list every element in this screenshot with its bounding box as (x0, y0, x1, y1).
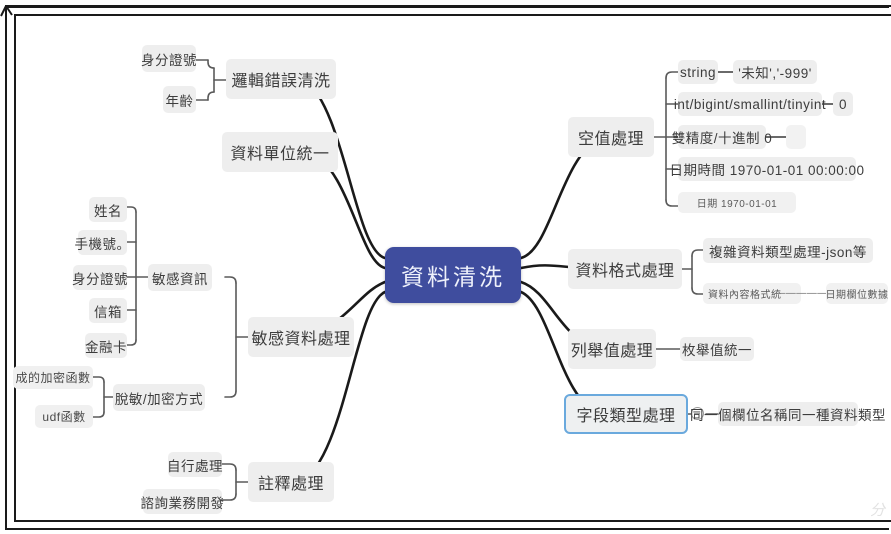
node-id-number-logic[interactable]: 身分證號 (142, 45, 196, 72)
node-null-int-types[interactable]: int/bigint/smallint/tinyint (678, 92, 822, 116)
node-label: 身分證號 (72, 268, 128, 288)
node-null-string-value[interactable]: '未知','-999' (733, 60, 817, 84)
node-label: 日期欄位數據 (826, 286, 889, 301)
branch-label: 邏輯錯誤清洗 (232, 67, 331, 91)
branch-enum-value-handling[interactable]: 列舉值處理 (568, 329, 656, 369)
node-label: 枚舉值統一 (682, 339, 752, 359)
node-label: 姓名 (94, 200, 122, 220)
branch-sensitive-data-handling[interactable]: 敏感資料處理 (248, 317, 354, 357)
branch-label: 資料單位統一 (231, 140, 330, 164)
node-label: 自行處理 (167, 455, 223, 475)
node-builtin-encryption-function[interactable]: 成的加密函數 (13, 366, 93, 389)
node-id-number-sensitive[interactable]: 身分證號 (73, 265, 127, 290)
branch-label: 資料格式處理 (576, 257, 675, 281)
node-label: udf函數 (42, 408, 85, 425)
node-enum-value-unify[interactable]: 枚舉值統一 (680, 337, 754, 361)
branch-null-value-handling[interactable]: 空值處理 (568, 117, 654, 157)
node-self-handling[interactable]: 自行處理 (168, 452, 222, 477)
node-label: 敏感資訊 (152, 268, 208, 288)
branch-label: 空值處理 (578, 125, 644, 149)
node-phone-number[interactable]: 手機號。 (78, 230, 127, 255)
node-financial-card[interactable]: 金融卡 (85, 333, 127, 358)
node-label: 年齡 (166, 90, 194, 110)
node-null-string[interactable]: string (678, 60, 718, 84)
node-label: 日期時間 1970-01-01 00:00:00 (669, 159, 864, 179)
node-null-int-value[interactable]: 0 (833, 92, 853, 116)
branch-comment-handling[interactable]: 註釋處理 (248, 462, 334, 502)
mindmap-canvas[interactable]: 資料清洗 邏輯錯誤清洗 身分證號 年齡 資料單位統一 敏感資料處理 敏感資訊 姓… (0, 0, 891, 534)
branch-data-format-handling[interactable]: 資料格式處理 (568, 249, 682, 289)
node-udf-function[interactable]: udf函數 (35, 405, 93, 428)
node-label: string (680, 65, 716, 80)
node-label: 成的加密函數 (16, 369, 91, 386)
root-node[interactable]: 資料清洗 (385, 247, 521, 303)
node-null-double-value[interactable] (786, 125, 806, 149)
node-consult-business-dev[interactable]: 諮詢業務開發 (143, 489, 222, 514)
node-null-datetime[interactable]: 日期時間 1970-01-01 00:00:00 (678, 157, 856, 181)
node-label: 同一個欄位名稱同一種資料類型 (690, 404, 886, 424)
node-label: 諮詢業務開發 (141, 492, 225, 512)
node-label: 手機號。 (75, 233, 131, 253)
node-same-field-same-type[interactable]: 同一個欄位名稱同一種資料類型 (718, 402, 858, 426)
node-label: int/bigint/smallint/tinyint (674, 97, 826, 112)
node-date-field-data[interactable]: 日期欄位數據 (826, 283, 888, 304)
watermark: 分 (870, 499, 885, 520)
branch-field-type-handling[interactable]: 字段類型處理 (564, 394, 688, 434)
node-complex-data-type-json[interactable]: 複雜資料類型處理-json等 (703, 238, 873, 263)
node-null-date[interactable]: 日期 1970-01-01 (678, 192, 796, 213)
branch-data-unit-unification[interactable]: 資料單位統一 (222, 132, 338, 172)
branch-label: 敏感資料處理 (252, 325, 351, 349)
branch-label: 字段類型處理 (576, 402, 675, 426)
branch-label: 列舉值處理 (571, 337, 654, 361)
branch-logic-error-cleaning[interactable]: 邏輯錯誤清洗 (226, 59, 336, 99)
node-mailbox[interactable]: 信箱 (89, 298, 127, 323)
root-node-label: 資料清洗 (401, 258, 505, 292)
node-label: 身分證號 (141, 49, 197, 69)
node-label: 脫敏/加密方式 (115, 388, 203, 408)
node-label: 0 (839, 97, 847, 112)
node-desensitization-encryption-method[interactable]: 脫敏/加密方式 (113, 384, 205, 411)
node-label: 金融卡 (85, 336, 127, 356)
node-label: 日期 1970-01-01 (697, 195, 777, 210)
node-null-double-decimal[interactable]: 雙精度/十進制 0 (678, 125, 766, 149)
node-label: 信箱 (94, 301, 122, 321)
node-sensitive-info[interactable]: 敏感資訊 (148, 264, 212, 291)
node-label: '未知','-999' (738, 62, 812, 82)
node-label: 雙精度/十進制 0 (672, 127, 773, 147)
node-label: 複雜資料類型處理-json等 (709, 241, 867, 261)
node-age[interactable]: 年齡 (163, 86, 196, 113)
node-name[interactable]: 姓名 (89, 197, 127, 222)
branch-label: 註釋處理 (258, 470, 324, 494)
node-label: 資料內容格式統 (708, 286, 782, 301)
